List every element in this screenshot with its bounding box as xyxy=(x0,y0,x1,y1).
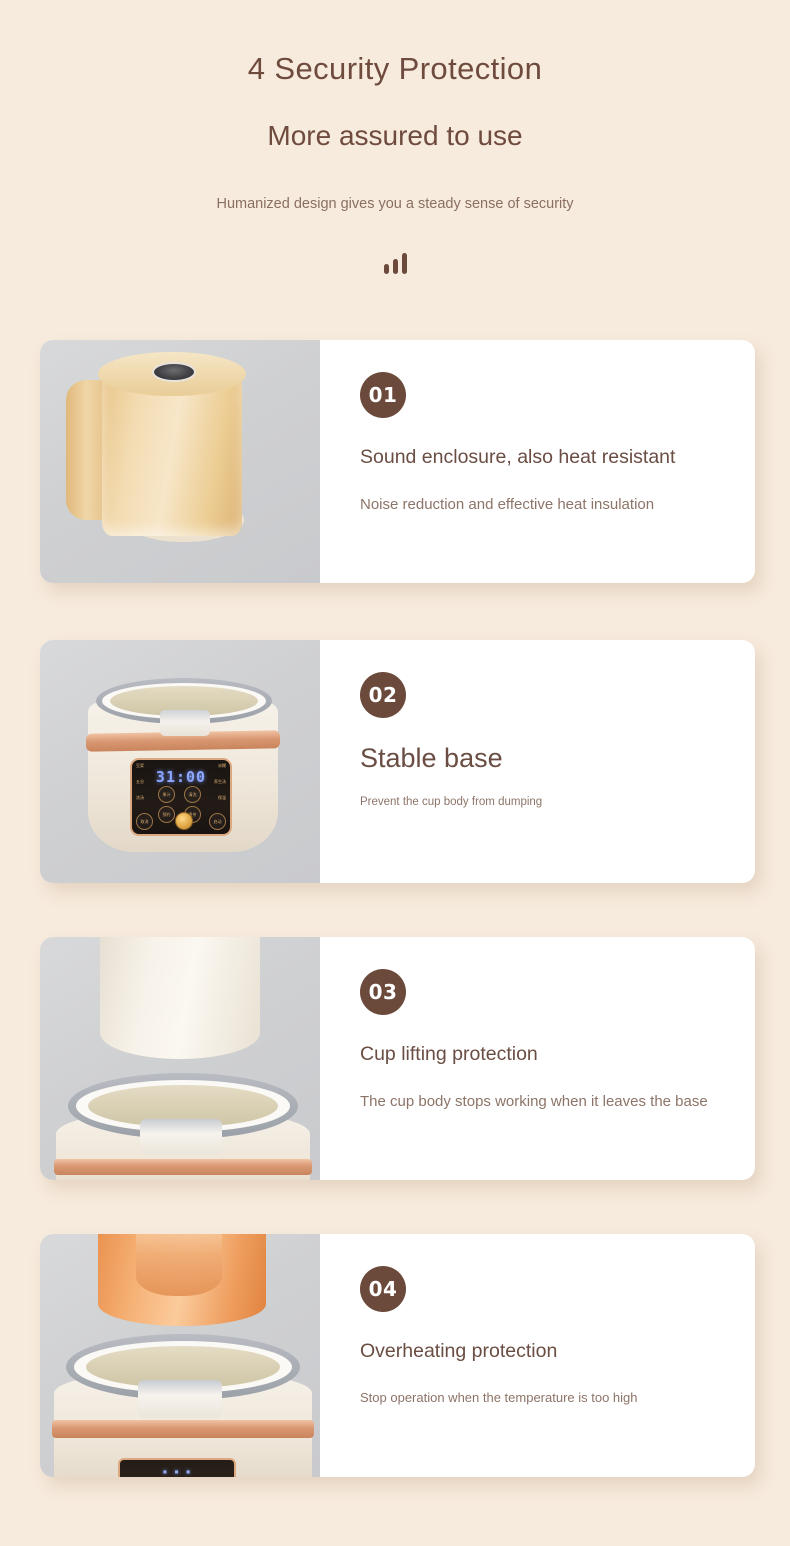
panel-button-cancel[interactable]: 取消 xyxy=(136,813,153,830)
panel-label-right-1: 米糊 xyxy=(218,764,226,768)
feature-text-02: 02 Stable base Prevent the cup body from… xyxy=(320,640,755,883)
panel-button-3[interactable]: 预约 xyxy=(158,806,175,823)
panel-label-left-1: 豆浆 xyxy=(136,764,144,768)
panel-label-right-2: 养生汤 xyxy=(214,780,226,784)
product-feature-page: 4 Security Protection More assured to us… xyxy=(0,0,790,1546)
feature-card-02[interactable]: 31:00 豆浆 五谷 浓汤 米糊 养生汤 保温 果汁 清洗 预约 煮茶 取消 … xyxy=(40,640,755,883)
bar-chart-icon xyxy=(380,214,410,274)
page-subtitle: More assured to use xyxy=(0,89,790,153)
feature-card-01[interactable]: 01 Sound enclosure, also heat resistant … xyxy=(40,340,755,583)
page-header: 4 Security Protection More assured to us… xyxy=(0,0,790,274)
feature-title: Overheating protection xyxy=(360,1312,755,1363)
feature-text-01: 01 Sound enclosure, also heat resistant … xyxy=(320,340,755,583)
feature-card-03[interactable]: 03 Cup lifting protection The cup body s… xyxy=(40,937,755,1180)
center-knob[interactable] xyxy=(175,812,193,830)
control-panel[interactable]: 31:00 豆浆 五谷 浓汤 米糊 养生汤 保温 果汁 清洗 预约 煮茶 取消 … xyxy=(130,758,232,836)
lid-latch xyxy=(160,710,210,736)
step-badge: 03 xyxy=(360,969,406,1015)
feature-title: Sound enclosure, also heat resistant xyxy=(360,418,755,469)
feature-text-03: 03 Cup lifting protection The cup body s… xyxy=(320,937,755,1180)
panel-button-start[interactable]: 启动 xyxy=(209,813,226,830)
panel-led-row: ▪ ▪ ▪ xyxy=(120,1467,234,1476)
feature-subtitle: Noise reduction and effective heat insul… xyxy=(360,469,755,514)
feature-subtitle: The cup body stops working when it leave… xyxy=(360,1066,755,1111)
step-badge: 04 xyxy=(360,1266,406,1312)
feature-card-04[interactable]: ▪ ▪ ▪ 04 Overheating protection Stop ope… xyxy=(40,1234,755,1477)
step-badge: 01 xyxy=(360,372,406,418)
feature-image-04: ▪ ▪ ▪ xyxy=(40,1234,320,1477)
panel-label-right-3: 保温 xyxy=(218,796,226,800)
feature-image-01 xyxy=(40,340,320,583)
base-latch xyxy=(138,1380,222,1418)
panel-label-left-2: 五谷 xyxy=(136,780,144,784)
rose-gold-trim xyxy=(54,1159,312,1175)
base-latch xyxy=(140,1119,222,1155)
control-panel[interactable]: ▪ ▪ ▪ xyxy=(118,1458,236,1477)
feature-title: Cup lifting protection xyxy=(360,1015,755,1066)
feature-subtitle: Prevent the cup body from dumping xyxy=(360,774,755,810)
feature-subtitle: Stop operation when the temperature is t… xyxy=(360,1363,755,1406)
panel-button-2[interactable]: 清洗 xyxy=(184,786,201,803)
feature-text-04: 04 Overheating protection Stop operation… xyxy=(320,1234,755,1477)
feature-image-02: 31:00 豆浆 五谷 浓汤 米糊 养生汤 保温 果汁 清洗 预约 煮茶 取消 … xyxy=(40,640,320,883)
step-badge: 02 xyxy=(360,672,406,718)
feature-image-03 xyxy=(40,937,320,1180)
enclosure-vent-hole xyxy=(152,362,196,382)
cup-body xyxy=(100,937,260,1059)
rose-gold-trim xyxy=(52,1420,314,1438)
panel-label-left-3: 浓汤 xyxy=(136,796,144,800)
page-description: Humanized design gives you a steady sens… xyxy=(0,153,790,214)
amber-cup-inner-core xyxy=(136,1234,222,1296)
page-title: 4 Security Protection xyxy=(0,0,790,89)
panel-button-1[interactable]: 果汁 xyxy=(158,786,175,803)
feature-title: Stable base xyxy=(360,718,755,774)
